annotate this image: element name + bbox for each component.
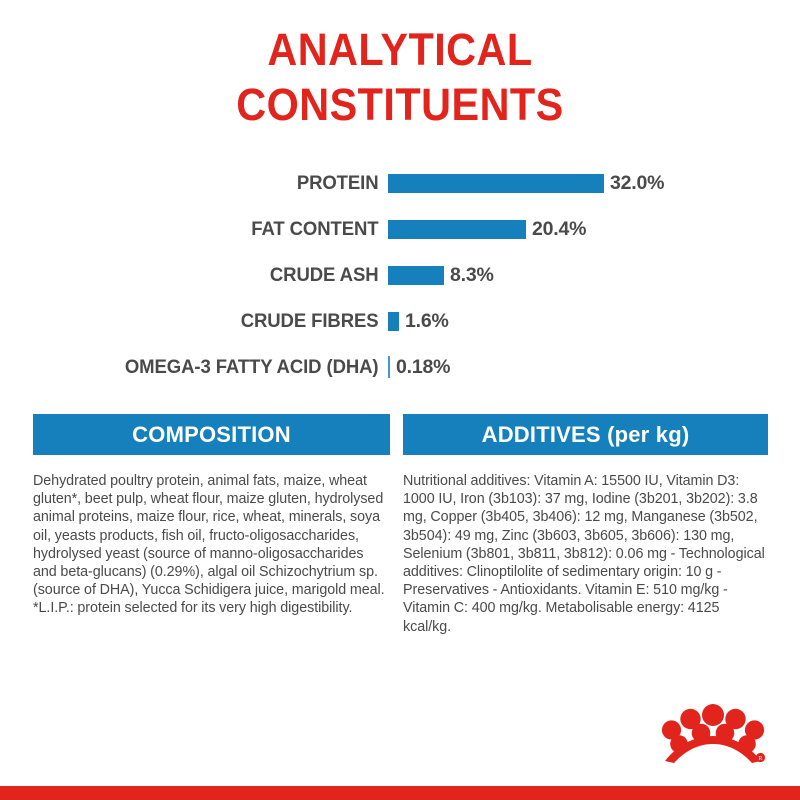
chart-row: FAT CONTENT20.4% <box>0 206 800 252</box>
composition-panel: COMPOSITION Dehydrated poultry protein, … <box>33 414 390 618</box>
chart-bar-group: 20.4% <box>388 206 586 252</box>
page-title-line-2: CONSTITUENTS <box>32 77 768 132</box>
chart-row-label: OMEGA-3 FATTY ACID (DHA) <box>19 357 388 377</box>
chart-row: CRUDE FIBRES1.6% <box>0 298 800 344</box>
chart-row: PROTEIN32.0% <box>0 160 800 206</box>
chart-bar-group: 8.3% <box>388 252 494 298</box>
chart-bar <box>388 312 399 331</box>
chart-value-label: 20.4% <box>526 219 586 239</box>
analytical-constituents-bar-chart: PROTEIN32.0%FAT CONTENT20.4%CRUDE ASH8.3… <box>0 160 800 395</box>
additives-body: Nutritional additives: Vitamin A: 15500 … <box>403 472 768 636</box>
chart-row: CRUDE ASH8.3% <box>0 252 800 298</box>
chart-bar <box>388 220 526 239</box>
chart-bar <box>388 174 604 193</box>
chart-row-label: PROTEIN <box>19 173 388 193</box>
chart-value-label: 0.18% <box>390 357 450 377</box>
additives-panel: ADDITIVES (per kg) Nutritional additives… <box>403 414 768 636</box>
chart-value-label: 8.3% <box>444 265 494 285</box>
chart-value-label: 1.6% <box>399 311 449 331</box>
registered-mark: R <box>758 756 762 762</box>
chart-row-label: CRUDE ASH <box>19 265 388 285</box>
chart-row-label: FAT CONTENT <box>19 219 388 239</box>
chart-bar-group: 0.18% <box>388 344 450 390</box>
chart-bar-group: 1.6% <box>388 298 449 344</box>
bottom-red-stripe <box>0 786 800 800</box>
page-title: ANALYTICAL CONSTITUENTS <box>32 22 768 132</box>
royal-canin-crown-logo: R <box>659 703 767 765</box>
composition-header: COMPOSITION <box>33 414 390 455</box>
additives-header: ADDITIVES (per kg) <box>403 414 768 455</box>
chart-row: OMEGA-3 FATTY ACID (DHA)0.18% <box>0 344 800 390</box>
composition-body: Dehydrated poultry protein, animal fats,… <box>33 472 390 618</box>
chart-row-label: CRUDE FIBRES <box>19 311 388 331</box>
chart-bar-group: 32.0% <box>388 160 664 206</box>
chart-value-label: 32.0% <box>604 173 664 193</box>
chart-bar <box>388 266 444 285</box>
page-title-line-1: ANALYTICAL <box>32 22 768 77</box>
